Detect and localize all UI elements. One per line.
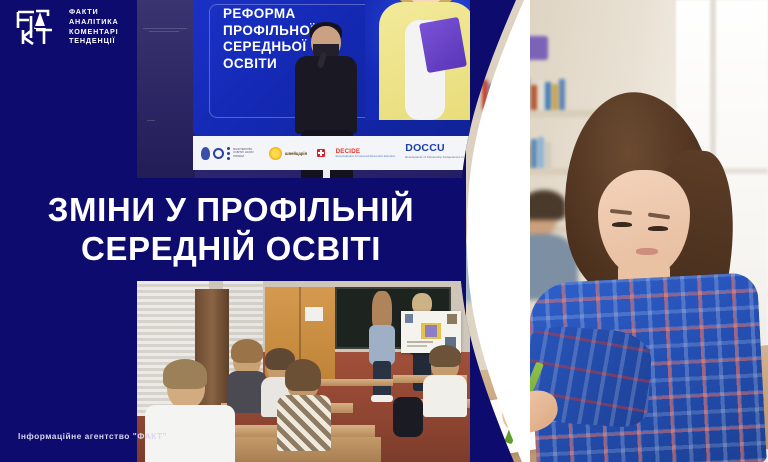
photo-classroom <box>137 281 470 462</box>
pupil-right <box>423 349 467 413</box>
doccu-sublabel: Development of Citizenship Competences i… <box>405 153 470 163</box>
ministry-label: МІНІСТЕРСТВО ОСВІТИ І НАУКИ УКРАЇНИ <box>233 148 259 158</box>
student-figure <box>498 92 758 462</box>
pupil-mid <box>277 363 329 441</box>
brand-line-3: КОМЕНТАРІ <box>69 28 119 37</box>
switzerland-label: швейцарія <box>285 151 307 156</box>
headline-line-2: СЕРЕДНІЙ ОСВІТІ <box>0 229 462 268</box>
brand-line-1: ФАКТИ <box>69 8 119 17</box>
headline-line-1: ЗМІНИ У ПРОФІЛЬНІЙ <box>0 190 462 229</box>
switzerland-cooperation-icon: швейцарія <box>269 147 307 160</box>
brand-line-2: АНАЛІТИКА <box>69 18 119 27</box>
slide-photo-student <box>365 0 470 120</box>
decide-sublabel: Decentralization for Improved Democratic… <box>336 155 396 158</box>
hall-wall <box>137 0 195 178</box>
brand-logo[interactable]: ФАКТИ АНАЛІТИКА КОМЕНТАРІ ТЕНДЕНЦІЇ <box>14 8 119 46</box>
photo-student-writing <box>466 0 768 462</box>
fakt-monogram-icon <box>14 8 60 46</box>
decide-label: DECIDE <box>336 148 361 155</box>
doccu-logo-icon: DOCCU Development of Citizenship Compete… <box>405 143 470 163</box>
footer-agency-credit: Інформаційне агентство "ФАКТ" <box>18 431 167 441</box>
backpack <box>393 397 423 437</box>
social-media-card: ФАКТИ АНАЛІТИКА КОМЕНТАРІ ТЕНДЕНЦІЇ РЕФО… <box>0 0 768 462</box>
brand-tagline: ФАКТИ АНАЛІТИКА КОМЕНТАРІ ТЕНДЕНЦІЇ <box>69 8 119 45</box>
ministry-of-education-emblem-icon: МІНІСТЕРСТВО ОСВІТИ І НАУКИ УКРАЇНИ <box>201 147 259 160</box>
left-blue-panel: ФАКТИ АНАЛІТИКА КОМЕНТАРІ ТЕНДЕНЦІЇ РЕФО… <box>0 0 520 462</box>
photo-conference-presentation: РЕФОРМА ПРОФІЛЬНОЇ СЕРЕДНЬОЇ ОСВІТИ <box>137 0 470 178</box>
brand-line-4: ТЕНДЕНЦІЇ <box>69 37 119 46</box>
decide-logo-icon: DECIDE Decentralization for Improved Dem… <box>336 148 396 158</box>
wall-sign <box>516 36 548 60</box>
swiss-flag-icon <box>317 149 325 157</box>
slide-title-line-1: РЕФОРМА <box>223 6 383 23</box>
headline: ЗМІНИ У ПРОФІЛЬНІЙ СЕРЕДНІЙ ОСВІТІ <box>0 190 462 268</box>
partner-logo-bar: МІНІСТЕРСТВО ОСВІТИ І НАУКИ УКРАЇНИ швей… <box>193 136 470 170</box>
pupil-foreground <box>149 365 235 462</box>
paper-note-on-cabinet <box>305 307 323 321</box>
